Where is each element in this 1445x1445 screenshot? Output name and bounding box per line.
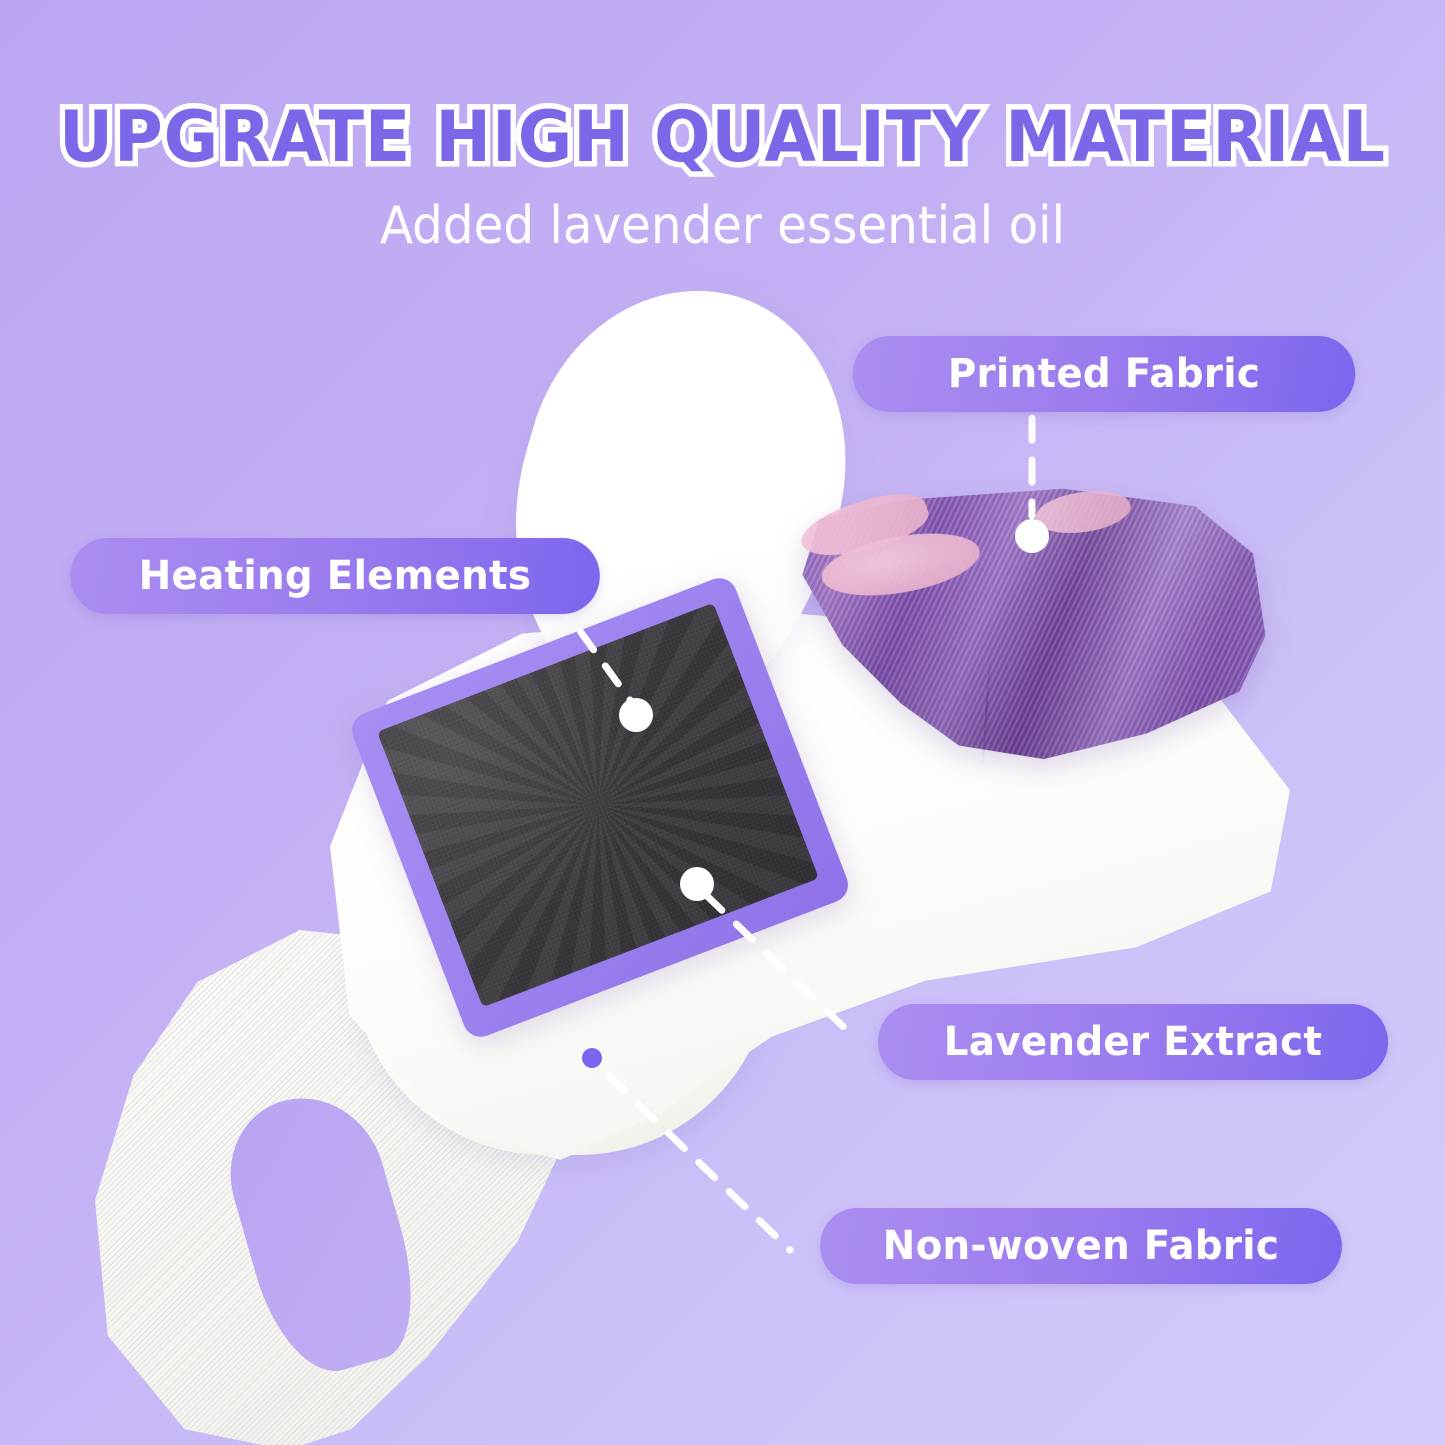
printed-fabric-layer <box>790 482 1269 773</box>
product-infographic-poster: UPGRATE HIGH QUALITY MATERIAL Added lave… <box>0 0 1445 1445</box>
page-subtitle: Added lavender essential oil <box>51 196 1395 256</box>
callout-printed-fabric[interactable]: Printed Fabric <box>853 336 1355 412</box>
non-woven-fabric-dot-marker <box>582 1048 602 1068</box>
callout-non-woven-fabric[interactable]: Non-woven Fabric <box>820 1208 1342 1284</box>
page-title: UPGRATE HIGH QUALITY MATERIAL <box>36 96 1409 178</box>
callout-lavender-extract[interactable]: Lavender Extract <box>878 1004 1388 1080</box>
callout-heating-elements[interactable]: Heating Elements <box>70 538 600 614</box>
